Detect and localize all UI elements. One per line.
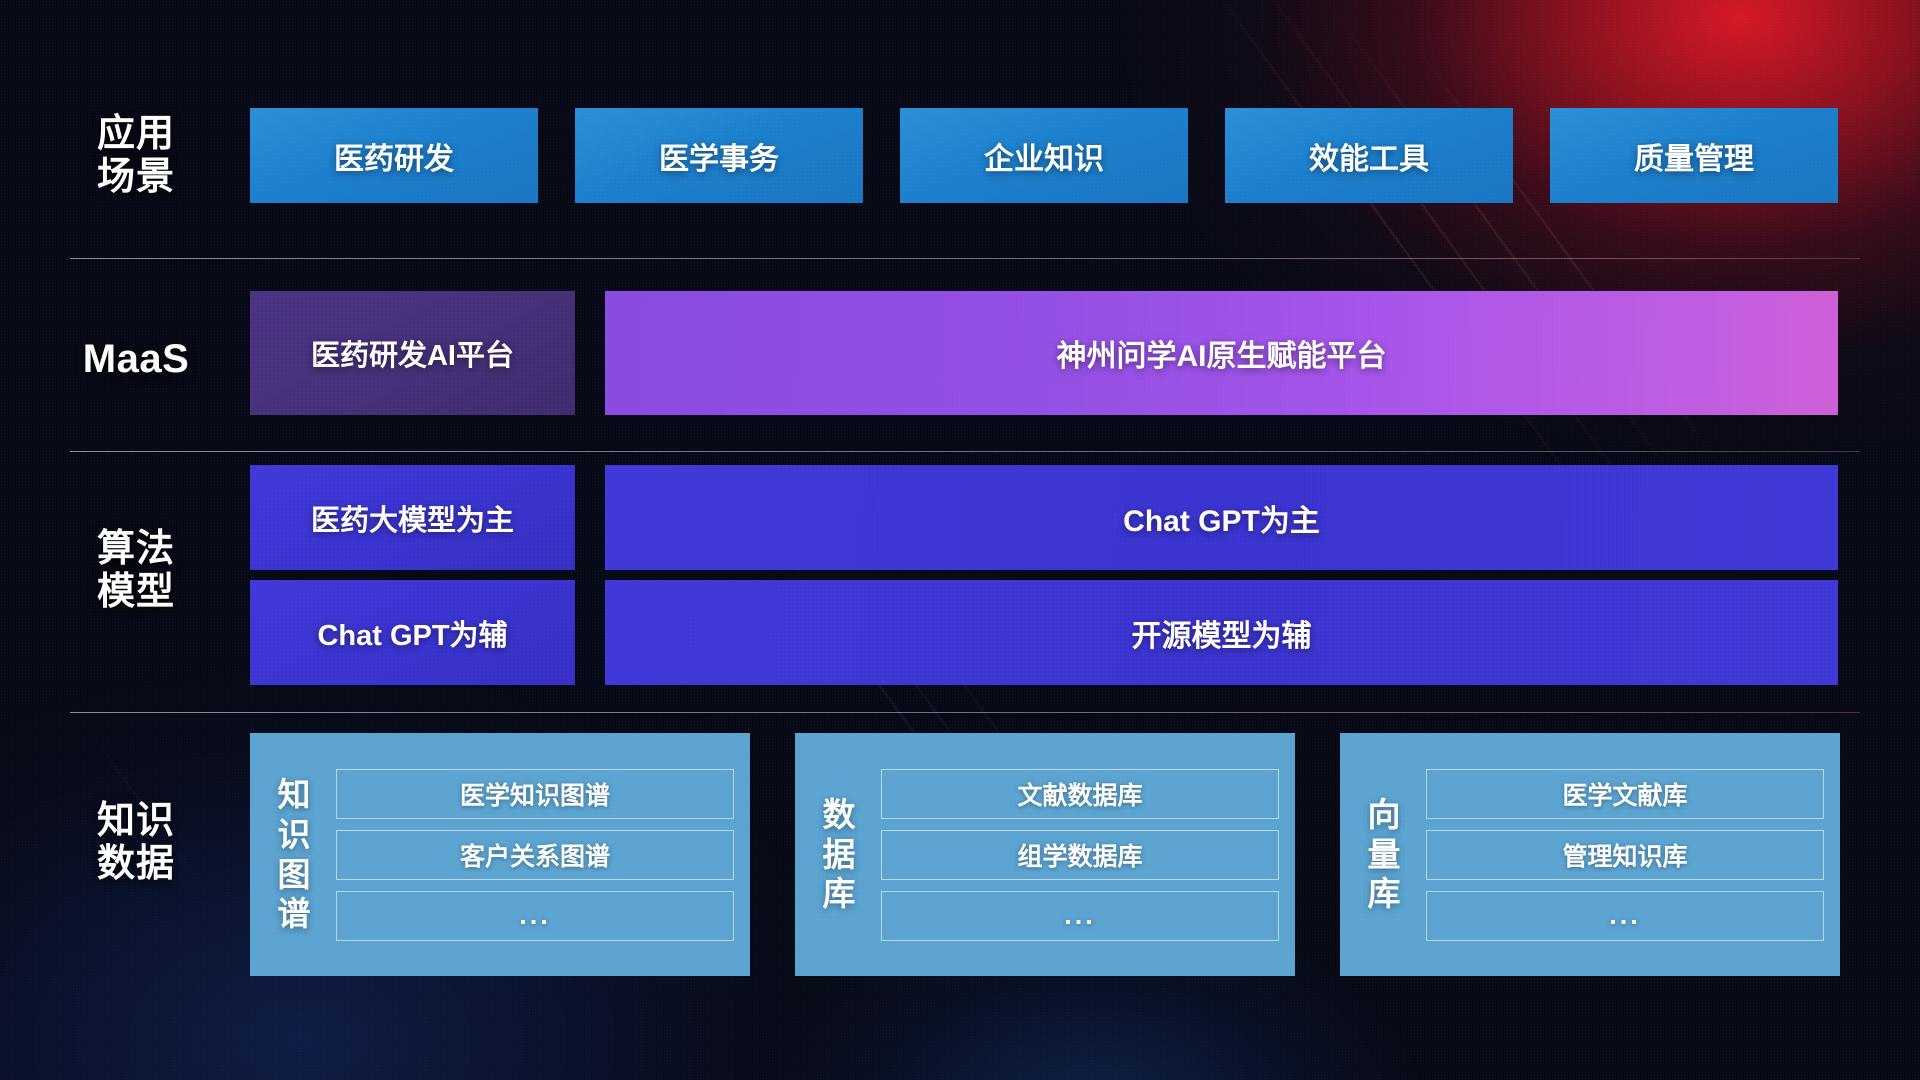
knowledge-group-label-char: 识	[278, 815, 311, 855]
app-box-label: 质量管理	[1634, 134, 1754, 178]
knowledge-group-label-char: 数	[823, 795, 856, 835]
app-box-efficiency-tools[interactable]: 效能工具	[1225, 108, 1513, 203]
knowledge-group-label-char: 谱	[278, 894, 311, 934]
knowledge-item-more[interactable]: ...	[1426, 891, 1824, 941]
maas-box-label: 神州问学AI原生赋能平台	[1057, 331, 1387, 375]
tier-label-maas: MaaS	[70, 337, 202, 382]
knowledge-group-items: 医学知识图谱 客户关系图谱 ...	[336, 747, 734, 962]
tier-label-algorithm-models: 算法 模型	[70, 528, 202, 613]
tier-divider-1	[70, 258, 1860, 259]
app-box-label: 医学事务	[659, 134, 779, 178]
algo-box-label: 开源模型为辅	[1132, 611, 1312, 655]
app-box-label: 医药研发	[334, 134, 454, 178]
knowledge-item[interactable]: 管理知识库	[1426, 830, 1824, 880]
maas-box-drug-rd-ai-platform[interactable]: 医药研发AI平台	[250, 291, 575, 415]
knowledge-item[interactable]: 组学数据库	[881, 830, 1279, 880]
knowledge-group-items: 文献数据库 组学数据库 ...	[881, 747, 1279, 962]
knowledge-group-knowledge-graph[interactable]: 知 识 图 谱 医学知识图谱 客户关系图谱 ...	[250, 733, 750, 976]
knowledge-group-label: 数 据 库	[809, 747, 869, 962]
tier-label-line: MaaS	[70, 337, 202, 382]
tier-divider-3	[70, 712, 1860, 713]
tier-label-line: 场景	[70, 156, 202, 199]
app-box-label: 企业知识	[984, 134, 1104, 178]
tier-label-line: 模型	[70, 571, 202, 614]
knowledge-group-label-char: 向	[1368, 795, 1401, 835]
knowledge-item[interactable]: 医学知识图谱	[336, 769, 734, 819]
algo-box-label: 医药大模型为主	[311, 497, 514, 539]
tier-label-line: 算法	[70, 528, 202, 571]
maas-box-shenzhou-wenxue-platform[interactable]: 神州问学AI原生赋能平台	[605, 291, 1838, 415]
knowledge-group-label-char: 图	[278, 855, 311, 895]
algo-box-chatgpt-secondary[interactable]: Chat GPT为辅	[250, 580, 575, 685]
algo-box-pharma-llm-primary[interactable]: 医药大模型为主	[250, 465, 575, 570]
algo-box-chatgpt-primary[interactable]: Chat GPT为主	[605, 465, 1838, 570]
tier-divider-2	[70, 451, 1860, 452]
knowledge-group-label-char: 库	[1368, 874, 1401, 914]
app-box-medical-affairs[interactable]: 医学事务	[575, 108, 863, 203]
app-box-enterprise-knowledge[interactable]: 企业知识	[900, 108, 1188, 203]
knowledge-group-label-char: 量	[1368, 835, 1401, 875]
knowledge-group-items: 医学文献库 管理知识库 ...	[1426, 747, 1824, 962]
knowledge-item-more[interactable]: ...	[881, 891, 1279, 941]
knowledge-group-label: 知 识 图 谱	[264, 747, 324, 962]
app-box-drug-rd[interactable]: 医药研发	[250, 108, 538, 203]
maas-box-label: 医药研发AI平台	[311, 332, 514, 374]
knowledge-group-label-char: 据	[823, 835, 856, 875]
knowledge-group-database[interactable]: 数 据 库 文献数据库 组学数据库 ...	[795, 733, 1295, 976]
knowledge-group-label: 向 量 库	[1354, 747, 1414, 962]
knowledge-group-vector-store[interactable]: 向 量 库 医学文献库 管理知识库 ...	[1340, 733, 1840, 976]
architecture-diagram: 应用 场景 医药研发 医学事务 企业知识 效能工具 质量管理 MaaS 医药研发…	[0, 0, 1920, 1080]
app-box-label: 效能工具	[1309, 134, 1429, 178]
tier-label-line: 知识	[70, 800, 202, 843]
algo-box-label: Chat GPT为主	[1123, 496, 1320, 540]
app-box-quality-management[interactable]: 质量管理	[1550, 108, 1838, 203]
knowledge-group-label-char: 知	[278, 775, 311, 815]
knowledge-item[interactable]: 医学文献库	[1426, 769, 1824, 819]
tier-label-application-scenarios: 应用 场景	[70, 113, 202, 198]
algo-box-opensource-secondary[interactable]: 开源模型为辅	[605, 580, 1838, 685]
tier-label-knowledge-data: 知识 数据	[70, 800, 202, 885]
knowledge-item[interactable]: 客户关系图谱	[336, 830, 734, 880]
tier-label-line: 数据	[70, 843, 202, 886]
tier-label-line: 应用	[70, 113, 202, 156]
knowledge-group-label-char: 库	[823, 874, 856, 914]
knowledge-item[interactable]: 文献数据库	[881, 769, 1279, 819]
knowledge-item-more[interactable]: ...	[336, 891, 734, 941]
algo-box-label: Chat GPT为辅	[317, 612, 507, 654]
